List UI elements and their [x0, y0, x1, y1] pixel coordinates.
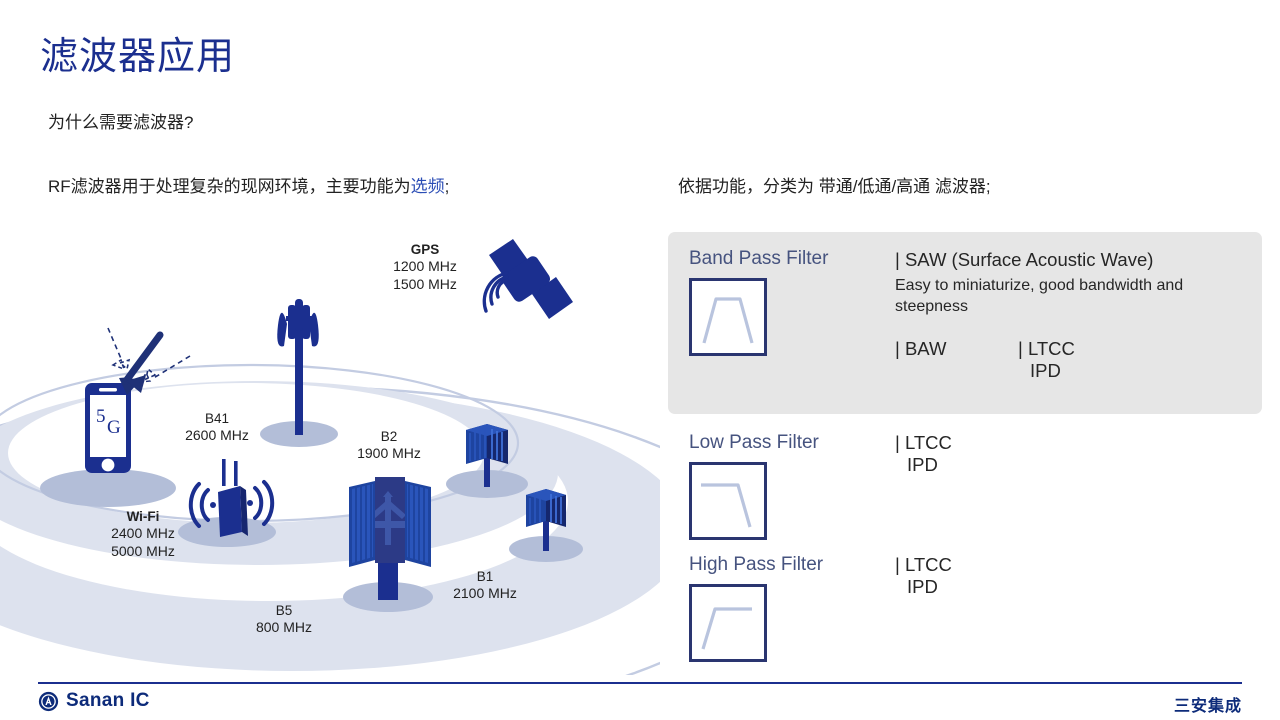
illus-label-gps-f1: 1200 MHz	[375, 258, 475, 276]
bpf-tech-ltcc: | LTCC	[1018, 338, 1075, 360]
gps-satellite-icon	[484, 239, 573, 319]
illus-label-b1-f1: 2100 MHz	[435, 585, 535, 603]
filter-row-high-pass[interactable]: High Pass Filter	[689, 554, 823, 662]
smartphone-5g: 5 G	[85, 383, 131, 473]
illus-label-b5-name: B5	[234, 602, 334, 619]
lpf-tech-ipd: IPD	[907, 454, 952, 476]
lead-text-right: 依据功能，分类为 带通/低通/高通 滤波器;	[678, 172, 991, 197]
filter-row-band-pass[interactable]: Band Pass Filter	[689, 248, 828, 356]
filter-desc-high-pass: | LTCC IPD	[895, 554, 952, 598]
bpf-tech-baw: | BAW	[895, 338, 1018, 382]
illus-label-b41-f1: 2600 MHz	[167, 427, 267, 445]
low-pass-curve-svg	[692, 465, 764, 537]
bpf-tech-main: | SAW (Surface Acoustic Wave)	[895, 249, 1255, 271]
illus-label-gps-f2: 1500 MHz	[375, 276, 475, 294]
illus-label-b1: B1 2100 MHz	[435, 568, 535, 603]
illus-label-b1-name: B1	[435, 568, 535, 585]
lead-left-highlight: 选频	[411, 177, 445, 196]
lpf-tech-ltcc: | LTCC	[895, 432, 952, 454]
illus-label-b41-name: B41	[167, 410, 267, 427]
illus-label-gps-name: GPS	[375, 241, 475, 258]
lead-left-post: ;	[445, 177, 450, 196]
footer-divider	[38, 682, 1242, 684]
low-pass-curve-icon	[689, 462, 767, 540]
illus-label-b2-name: B2	[339, 428, 439, 445]
illus-label-b2-f1: 1900 MHz	[339, 445, 439, 463]
band-pass-curve-icon	[689, 278, 767, 356]
svg-text:5: 5	[96, 406, 106, 427]
illus-label-wifi-f1: 2400 MHz	[93, 525, 193, 543]
high-pass-curve-svg	[692, 587, 764, 659]
illus-label-b41: B41 2600 MHz	[167, 410, 267, 445]
high-pass-curve-icon	[689, 584, 767, 662]
bpf-tech-ipd: IPD	[1030, 360, 1075, 382]
band-pass-curve-svg	[692, 281, 764, 353]
illus-label-b2: B2 1900 MHz	[339, 428, 439, 463]
hpf-tech-ltcc: | LTCC	[895, 554, 952, 576]
filter-name-high-pass: High Pass Filter	[689, 554, 823, 576]
page-subtitle: 为什么需要滤波器?	[48, 108, 193, 133]
lead-left-pre: RF滤波器用于处理复杂的现网环境，主要功能为	[48, 177, 411, 196]
footer-brand-text: Sanan IC	[66, 690, 150, 712]
filter-desc-band-pass: | SAW (Surface Acoustic Wave) Easy to mi…	[895, 249, 1255, 382]
slide-root: 滤波器应用 为什么需要滤波器? RF滤波器用于处理复杂的现网环境，主要功能为选频…	[0, 0, 1280, 720]
page-title: 滤波器应用	[40, 36, 235, 80]
filter-name-band-pass: Band Pass Filter	[689, 248, 828, 270]
illus-label-wifi-name: Wi-Fi	[93, 508, 193, 525]
illus-label-gps: GPS 1200 MHz 1500 MHz	[375, 241, 475, 294]
lead-text-left: RF滤波器用于处理复杂的现网环境，主要功能为选频;	[48, 172, 449, 197]
svg-text:G: G	[107, 417, 121, 438]
illus-label-b5-f1: 800 MHz	[234, 619, 334, 637]
footer-brand-cn: 三安集成	[1174, 692, 1242, 716]
filter-desc-low-pass: | LTCC IPD	[895, 432, 952, 476]
illus-label-b5: B5 800 MHz	[234, 602, 334, 637]
hpf-tech-ipd: IPD	[907, 576, 952, 598]
illus-label-wifi-f2: 5000 MHz	[93, 543, 193, 561]
footer-brand-group: Sanan IC	[38, 690, 150, 712]
filter-row-low-pass[interactable]: Low Pass Filter	[689, 432, 819, 540]
sanan-logo-icon	[38, 691, 59, 712]
filter-name-low-pass: Low Pass Filter	[689, 432, 819, 454]
bpf-tech-desc: Easy to miniaturize, good bandwidth and …	[895, 276, 1255, 318]
network-illustration: 5 G	[0, 215, 660, 675]
illus-label-wifi: Wi-Fi 2400 MHz 5000 MHz	[93, 508, 193, 561]
